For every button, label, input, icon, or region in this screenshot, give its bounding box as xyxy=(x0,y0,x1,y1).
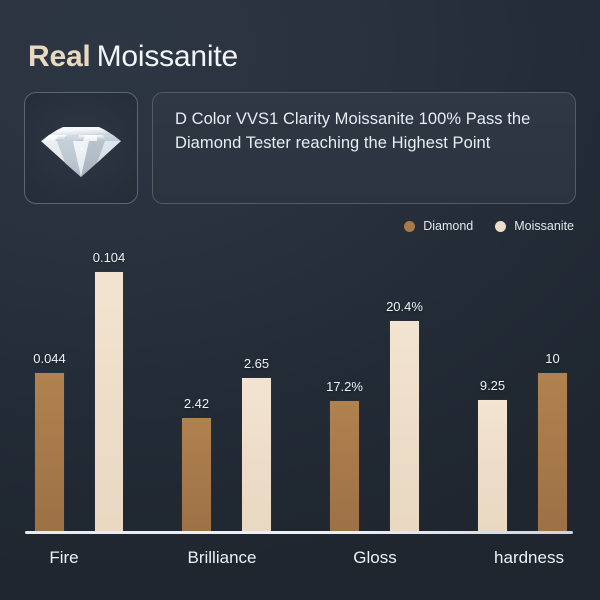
bar-value-label: 17.2% xyxy=(326,379,363,394)
bar-fill xyxy=(390,321,419,531)
x-axis-label-hardness: hardness xyxy=(494,548,564,568)
page-title-accent: Real xyxy=(28,40,91,73)
x-axis-label-fire: Fire xyxy=(49,548,78,568)
bar-fill xyxy=(182,418,211,531)
bar-value-label: 2.42 xyxy=(184,396,209,411)
bar-fire-moissanite[interactable]: 0.104 xyxy=(95,272,123,531)
x-axis-labels: FireBrillianceGlosshardness xyxy=(0,548,600,578)
legend-label-diamond: Diamond xyxy=(423,219,473,233)
info-card: D Color VVS1 Clarity Moissanite 100% Pas… xyxy=(152,92,576,204)
bar-hardness-moissanite[interactable]: 9.25 xyxy=(478,400,507,531)
chart-legend: Diamond Moissanite xyxy=(404,219,574,233)
info-card-text: D Color VVS1 Clarity Moissanite 100% Pas… xyxy=(175,107,557,155)
bar-value-label: 20.4% xyxy=(386,299,423,314)
legend-swatch-moissanite xyxy=(495,221,506,232)
bar-gloss-diamond[interactable]: 17.2% xyxy=(330,401,359,531)
bar-gloss-moissanite[interactable]: 20.4% xyxy=(390,321,419,531)
legend-item-diamond[interactable]: Diamond xyxy=(404,219,473,233)
x-axis-label-gloss: Gloss xyxy=(353,548,396,568)
bar-value-label: 0.044 xyxy=(33,351,66,366)
bar-value-label: 10 xyxy=(545,351,559,366)
bar-value-label: 0.104 xyxy=(93,250,126,265)
bar-fill xyxy=(538,373,567,531)
bar-hardness-diamond[interactable]: 10 xyxy=(538,373,567,531)
bar-value-label: 2.65 xyxy=(244,356,269,371)
bar-value-label: 9.25 xyxy=(480,378,505,393)
page-title-rest: Moissanite xyxy=(97,40,238,73)
bar-fill xyxy=(242,378,271,531)
bar-fill xyxy=(35,373,64,531)
page-title: RealMoissanite xyxy=(28,38,238,76)
bar-brilliance-moissanite[interactable]: 2.65 xyxy=(242,378,271,531)
legend-label-moissanite: Moissanite xyxy=(514,219,574,233)
bar-fire-diamond[interactable]: 0.044 xyxy=(35,373,64,531)
legend-swatch-diamond xyxy=(404,221,415,232)
axis-baseline xyxy=(25,531,573,534)
bar-fill xyxy=(478,400,507,531)
bar-brilliance-diamond[interactable]: 2.42 xyxy=(182,418,211,531)
legend-item-moissanite[interactable]: Moissanite xyxy=(495,219,574,233)
gem-image-card xyxy=(24,92,138,204)
hero-row: D Color VVS1 Clarity Moissanite 100% Pas… xyxy=(24,92,576,204)
infographic-canvas: RealMoissanite xyxy=(0,0,600,600)
diamond-icon xyxy=(35,119,127,181)
bar-fill xyxy=(330,401,359,531)
bar-fill xyxy=(95,272,123,531)
x-axis-label-brilliance: Brilliance xyxy=(188,548,257,568)
